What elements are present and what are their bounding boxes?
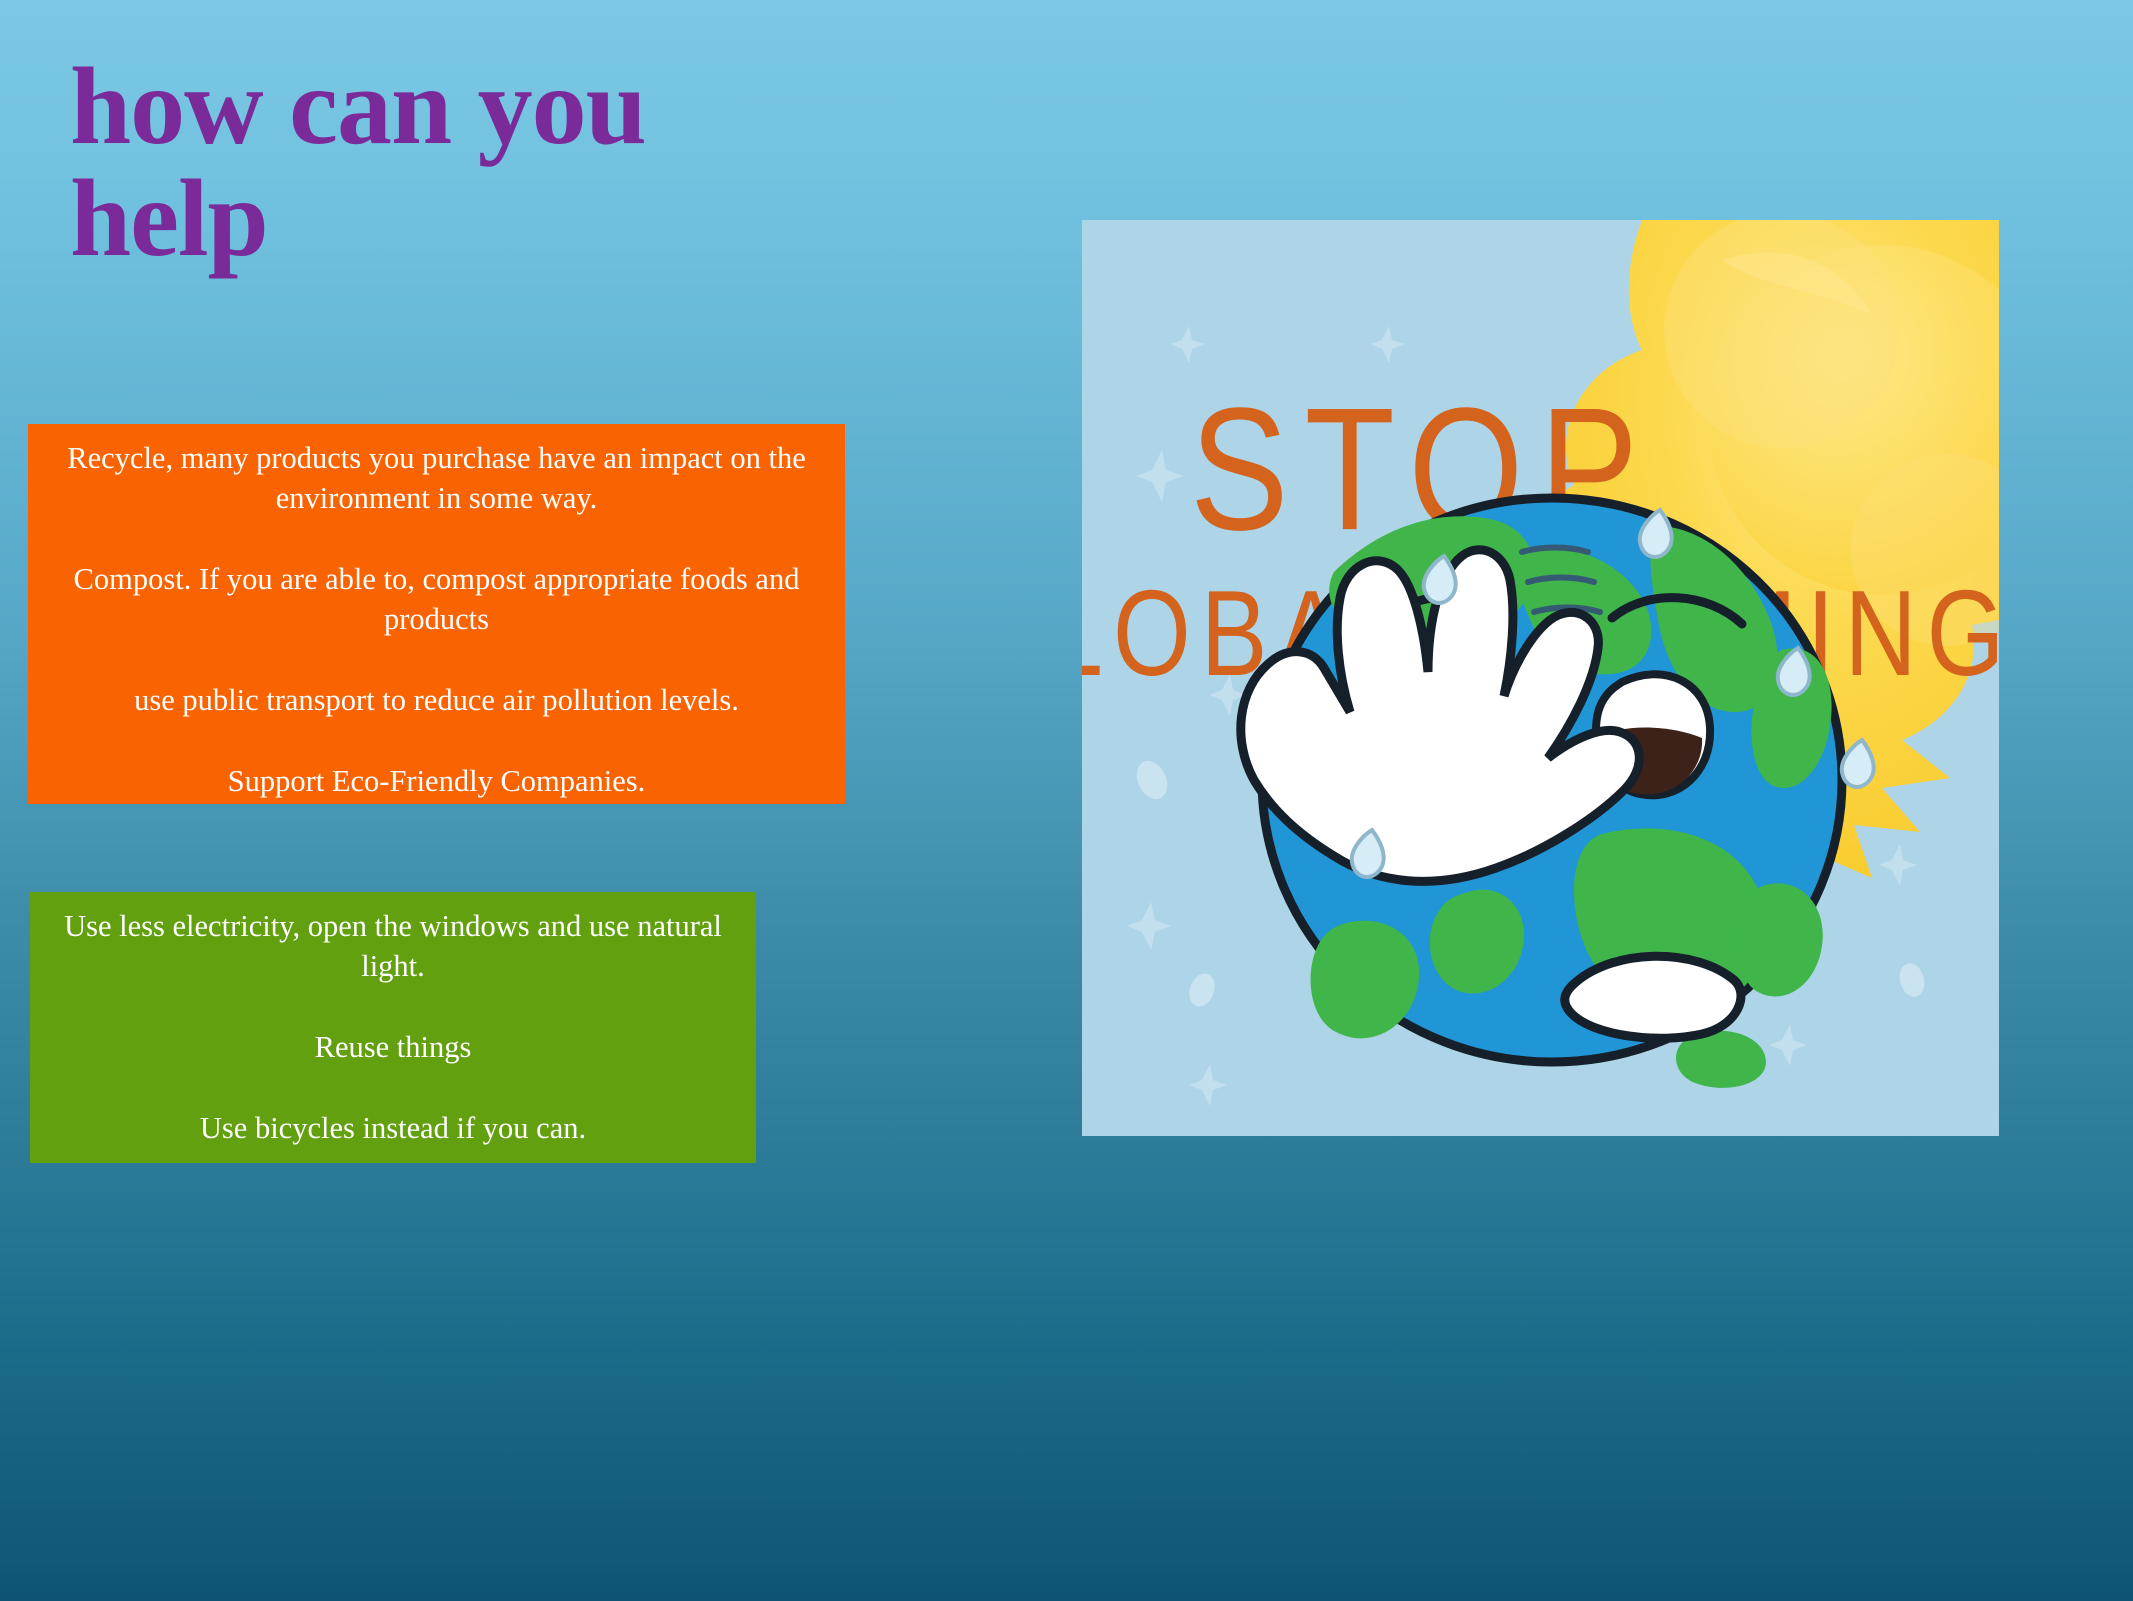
orange-line-3: Compost. If you are able to, compost app… [46, 559, 827, 640]
green-line-4 [48, 1067, 738, 1108]
green-line-2 [48, 987, 738, 1028]
tips-orange-box: Recycle, many products you purchase have… [28, 424, 845, 804]
orange-line-6 [46, 720, 827, 761]
poster-svg: STOP GLOBAL WARMING [1082, 220, 1999, 1136]
green-line-1: Use less electricity, open the windows a… [48, 906, 738, 987]
green-line-5: Use bicycles instead if you can. [48, 1108, 738, 1148]
slide-canvas: how can you help Recycle, many products … [0, 0, 2133, 1601]
green-line-3: Reuse things [48, 1027, 738, 1067]
orange-line-5: use public transport to reduce air pollu… [46, 680, 827, 720]
earth-mouth [1565, 956, 1741, 1038]
tips-green-box: Use less electricity, open the windows a… [30, 892, 756, 1163]
stop-global-warming-image: STOP GLOBAL WARMING [1082, 220, 1999, 1136]
orange-line-4 [46, 640, 827, 681]
orange-line-1: Recycle, many products you purchase have… [46, 438, 827, 519]
orange-line-7: Support Eco-Friendly Companies. [46, 761, 827, 801]
page-title: how can you help [70, 50, 970, 274]
orange-line-2 [46, 519, 827, 560]
